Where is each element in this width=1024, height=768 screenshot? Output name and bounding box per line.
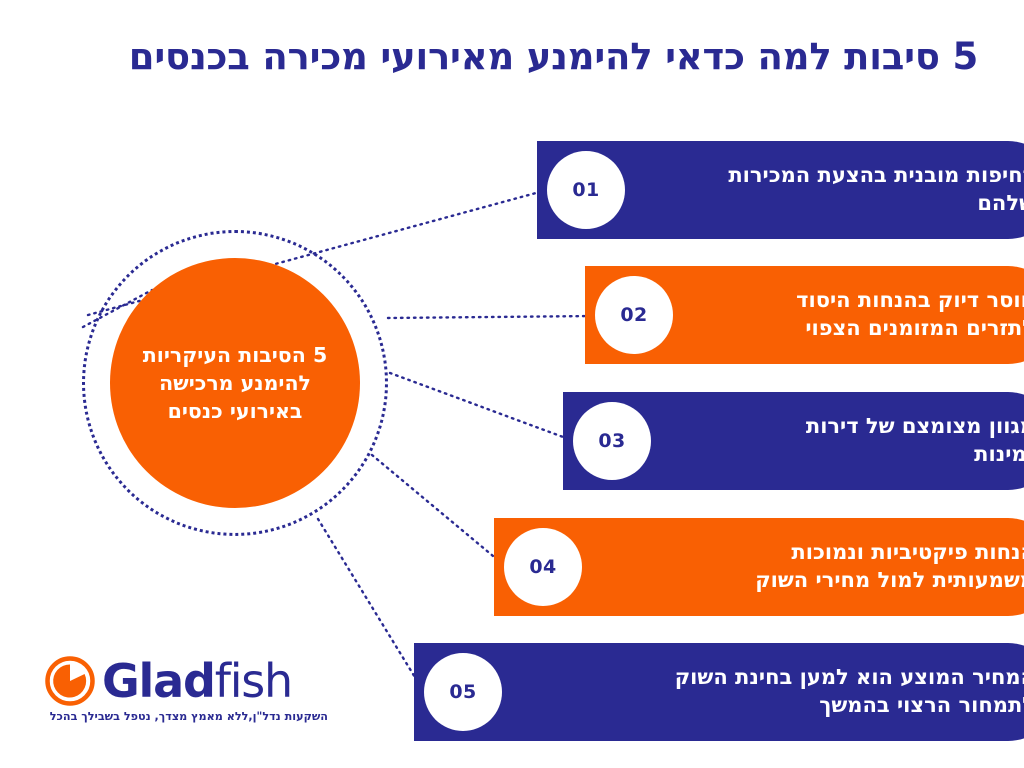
hub-label: 5 הסיבות העיקריות להימנע מרכישה באירועי …	[125, 341, 345, 426]
reason-number-02: 02	[620, 304, 647, 326]
brand-logo[interactable]: Gladfish השקעות נדל"ן,ללא מאמץ מצדך, נטפ…	[44, 655, 344, 723]
reason-row-01[interactable]: 01 דחיפות מובנית בהצעת המכירות שלהם	[537, 141, 1024, 239]
reason-number-01: 01	[572, 179, 599, 201]
reason-badge-01: 01	[547, 151, 625, 229]
reason-number-05: 05	[449, 681, 476, 703]
hub-circle: 5 הסיבות העיקריות להימנע מרכישה באירועי …	[110, 258, 360, 508]
logo-tagline: השקעות נדל"ן,ללא מאמץ מצדך, נטפל בשבילך …	[44, 710, 328, 723]
logo-word-fish: fish	[215, 654, 292, 708]
logo-word-glad: Glad	[102, 654, 215, 708]
reason-text-02: חוסר דיוק בהנחות היסוד לתזרים המזומנים ה…	[683, 287, 1024, 343]
reason-text-03: מגוון מצומצם של דירות זמינות	[661, 413, 1024, 469]
logo-wordmark: Gladfish	[102, 658, 292, 704]
reason-badge-03: 03	[573, 402, 651, 480]
reason-row-04[interactable]: 04 הנחות פיקטיביות ונמוכות משמעותית למול…	[494, 518, 1024, 616]
gladfish-circle-mark	[44, 655, 96, 707]
reason-number-03: 03	[598, 430, 625, 452]
reason-text-05: המחיר המוצע הוא למען בחינת השוק לתמחור ה…	[512, 664, 1024, 720]
reason-row-03[interactable]: 03 מגוון מצומצם של דירות זמינות	[563, 392, 1024, 490]
reason-badge-02: 02	[595, 276, 673, 354]
reason-badge-05: 05	[424, 653, 502, 731]
infographic-canvas: 5 סיבות למה כדאי להימנע מאירועי מכירה בכ…	[0, 0, 1024, 768]
reason-row-02[interactable]: 02 חוסר דיוק בהנחות היסוד לתזרים המזומני…	[585, 266, 1024, 364]
reason-text-04: הנחות פיקטיביות ונמוכות משמעותית למול מח…	[592, 539, 1024, 595]
reason-row-05[interactable]: 05 המחיר המוצע הוא למען בחינת השוק לתמחו…	[414, 643, 1024, 741]
reason-text-01: דחיפות מובנית בהצעת המכירות שלהם	[635, 162, 1024, 218]
reason-number-04: 04	[529, 556, 556, 578]
reason-badge-04: 04	[504, 528, 582, 606]
